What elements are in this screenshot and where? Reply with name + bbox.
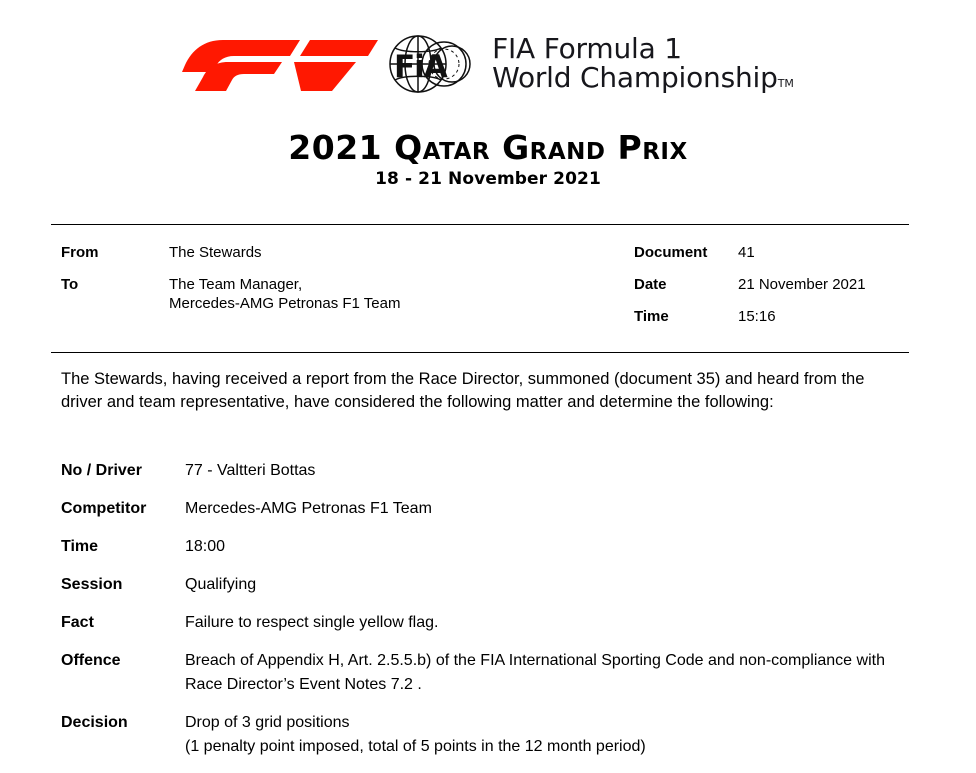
- detail-row: Competitor Mercedes-AMG Petronas F1 Team: [61, 497, 906, 521]
- event-title: 2021 Qatar Grand Prix: [0, 131, 976, 164]
- detail-value: Failure to respect single yellow flag.: [185, 611, 906, 635]
- meta-value: 41: [738, 243, 755, 262]
- meta-label: From: [61, 243, 169, 262]
- meta-value: The Team Manager, Mercedes-AMG Petronas …: [169, 275, 400, 313]
- meta-row: Date 21 November 2021: [634, 275, 964, 294]
- detail-label: Competitor: [61, 497, 185, 521]
- document-page: FiA FIA Formula 1 World ChampionshipTM 2…: [0, 0, 976, 752]
- detail-row: Offence Breach of Appendix H, Art. 2.5.5…: [61, 649, 906, 697]
- decision-details: No / Driver 77 - Valtteri Bottas Competi…: [61, 459, 906, 773]
- divider-top: [51, 224, 909, 225]
- meta-row: Document 41: [634, 243, 964, 262]
- detail-row: No / Driver 77 - Valtteri Bottas: [61, 459, 906, 483]
- meta-label: Date: [634, 275, 738, 294]
- meta-label: Document: [634, 243, 738, 262]
- detail-label: Offence: [61, 649, 185, 673]
- detail-label: No / Driver: [61, 459, 185, 483]
- detail-label: Fact: [61, 611, 185, 635]
- detail-label: Session: [61, 573, 185, 597]
- meta-value: The Stewards: [169, 243, 262, 262]
- meta-label: Time: [634, 307, 738, 326]
- fia-globe-logo: FiA: [388, 27, 472, 101]
- detail-label: Time: [61, 535, 185, 559]
- meta-row: From The Stewards: [61, 243, 541, 262]
- document-header-logos: FiA FIA Formula 1 World ChampionshipTM: [0, 22, 976, 106]
- detail-row: Fact Failure to respect single yellow fl…: [61, 611, 906, 635]
- detail-value: Mercedes-AMG Petronas F1 Team: [185, 497, 906, 521]
- meta-label: To: [61, 275, 169, 294]
- detail-row: Time 18:00: [61, 535, 906, 559]
- meta-column-reference: Document 41 Date 21 November 2021 Time 1…: [634, 243, 964, 339]
- fia-wordmark-line-2: World ChampionshipTM: [492, 64, 794, 93]
- detail-value: 77 - Valtteri Bottas: [185, 459, 906, 483]
- meta-value: 15:16: [738, 307, 776, 326]
- fia-wordmark-line-1: FIA Formula 1: [492, 35, 794, 64]
- fia-wordmark: FIA Formula 1 World ChampionshipTM: [492, 35, 794, 92]
- detail-value: Qualifying: [185, 573, 906, 597]
- f1-logo: [182, 34, 378, 94]
- svg-text:FiA: FiA: [394, 49, 448, 85]
- detail-value: 18:00: [185, 535, 906, 559]
- detail-label: Decision: [61, 711, 185, 735]
- meta-column-addressing: From The Stewards To The Team Manager, M…: [61, 243, 541, 326]
- divider-middle: [51, 352, 909, 353]
- intro-paragraph: The Stewards, having received a report f…: [61, 368, 891, 414]
- meta-row: To The Team Manager, Mercedes-AMG Petron…: [61, 275, 541, 313]
- detail-value: Breach of Appendix H, Art. 2.5.5.b) of t…: [185, 649, 906, 697]
- detail-row: Session Qualifying: [61, 573, 906, 597]
- meta-value: 21 November 2021: [738, 275, 866, 294]
- meta-row: Time 15:16: [634, 307, 964, 326]
- event-dates: 18 - 21 November 2021: [0, 171, 976, 188]
- trademark-symbol: TM: [778, 77, 794, 90]
- document-meta: From The Stewards To The Team Manager, M…: [0, 243, 976, 343]
